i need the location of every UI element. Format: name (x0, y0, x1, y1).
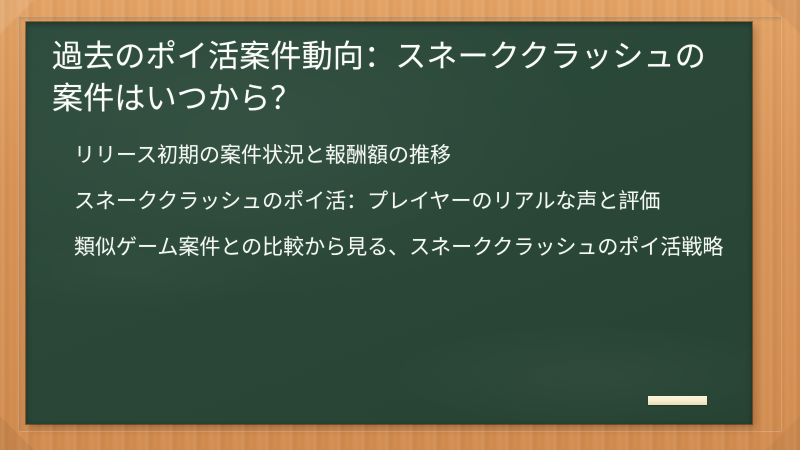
page-title: 過去のポイ活案件動向：スネーククラッシュの案件はいつから？ (52, 36, 712, 119)
frame-corner-bottom-right (766, 416, 800, 450)
chalkboard-eyecatch-graphic: 過去のポイ活案件動向：スネーククラッシュの案件はいつから？ リリース初期の案件状… (0, 0, 800, 450)
list-item: スネーククラッシュのポイ活：プレイヤーのリアルな声と評価 (74, 187, 724, 217)
chalk-stick-icon (648, 396, 707, 405)
list-item: リリース初期の案件状況と報酬額の推移 (74, 141, 724, 171)
list-item: 類似ゲーム案件との比較から見る、スネーククラッシュのポイ活戦略 (74, 233, 724, 263)
frame-corner-top-right (766, 0, 800, 34)
blackboard-content: 過去のポイ活案件動向：スネーククラッシュの案件はいつから？ リリース初期の案件状… (26, 22, 752, 424)
table-of-contents-list: リリース初期の案件状況と報酬額の推移 スネーククラッシュのポイ活：プレイヤーのリ… (52, 141, 726, 262)
blackboard-surface: 過去のポイ活案件動向：スネーククラッシュの案件はいつから？ リリース初期の案件状… (26, 22, 752, 424)
